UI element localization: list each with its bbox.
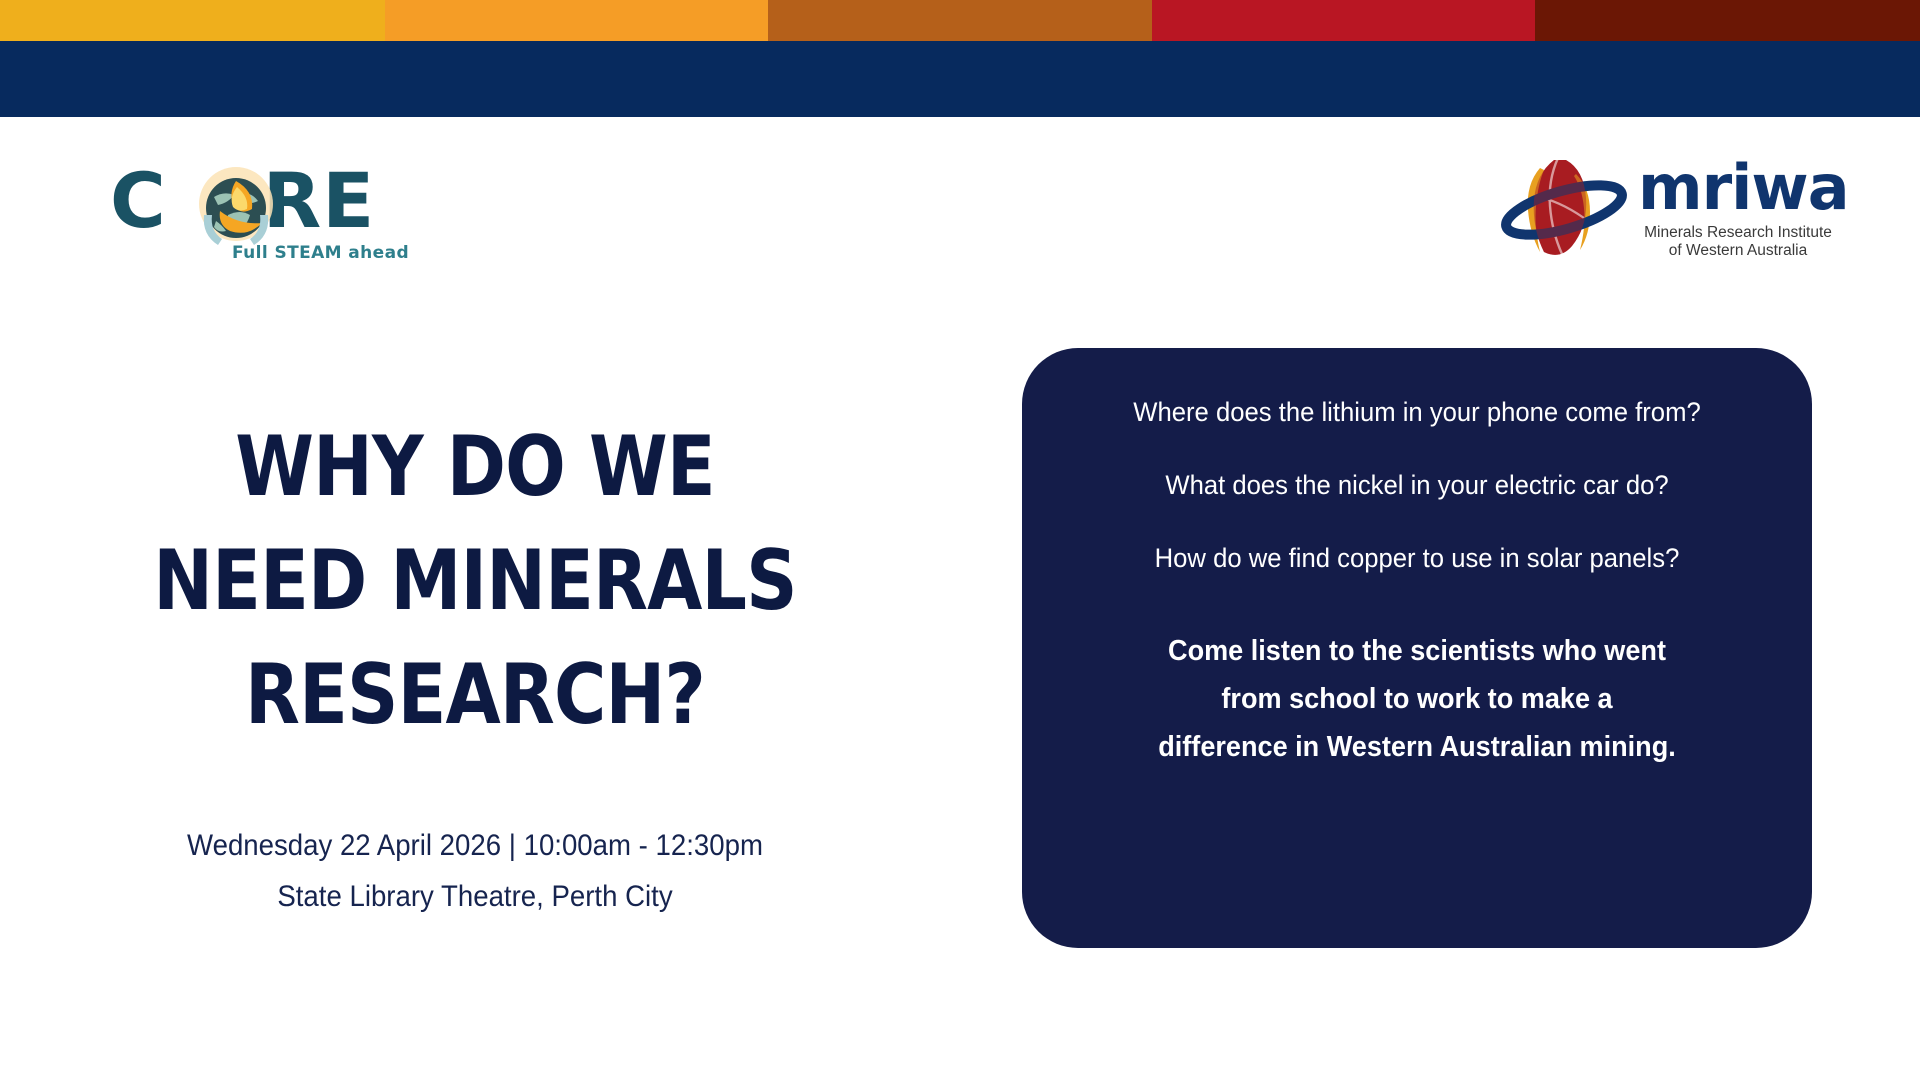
event-datetime: Wednesday 22 April 2026 | 10:00am - 12:3… bbox=[93, 820, 857, 871]
mriwa-emblem-icon bbox=[1500, 152, 1628, 264]
core-tagline: Full STEAM ahead bbox=[232, 243, 409, 263]
cta-line-3: difference in Western Australian mining. bbox=[1099, 723, 1736, 771]
question-item: Where does the lithium in your phone com… bbox=[1099, 396, 1736, 429]
mriwa-logo: mriwa Minerals Research Institute of Wes… bbox=[1500, 150, 1840, 270]
event-details: Wednesday 22 April 2026 | 10:00am - 12:3… bbox=[93, 820, 857, 922]
color-bar-segment-yellow bbox=[0, 0, 385, 41]
headline-line-2: NEED MINERALS bbox=[118, 524, 832, 638]
mriwa-subtitle-line-2: of Western Australia bbox=[1638, 242, 1838, 260]
top-color-bar bbox=[0, 0, 1920, 41]
info-card: Where does the lithium in your phone com… bbox=[1022, 348, 1812, 948]
color-bar-segment-maroon bbox=[1535, 0, 1920, 41]
call-to-action: Come listen to the scientists who went f… bbox=[1099, 627, 1736, 771]
question-list: Where does the lithium in your phone com… bbox=[1082, 396, 1752, 575]
page-title: WHY DO WE NEED MINERALS RESEARCH? bbox=[118, 410, 832, 752]
color-bar-segment-ochre bbox=[768, 0, 1152, 41]
cta-line-1: Come listen to the scientists who went bbox=[1099, 627, 1736, 675]
cta-line-2: from school to work to make a bbox=[1099, 675, 1736, 723]
mriwa-wordmark: mriwa bbox=[1638, 156, 1849, 220]
mriwa-subtitle: Minerals Research Institute of Western A… bbox=[1638, 224, 1838, 260]
headline-line-1: WHY DO WE bbox=[118, 410, 832, 524]
color-bar-segment-red bbox=[1152, 0, 1535, 41]
question-item: What does the nickel in your electric ca… bbox=[1099, 469, 1736, 502]
question-item: How do we find copper to use in solar pa… bbox=[1099, 542, 1736, 575]
headline-line-3: RESEARCH? bbox=[118, 638, 832, 752]
mriwa-subtitle-line-1: Minerals Research Institute bbox=[1638, 224, 1838, 242]
globe-icon bbox=[190, 163, 282, 255]
header-navy-band bbox=[0, 41, 1920, 117]
color-bar-segment-orange bbox=[385, 0, 768, 41]
core-logo: CRE Full STEAM ahead bbox=[108, 155, 398, 270]
core-letter-c: C bbox=[110, 156, 167, 245]
event-venue: State Library Theatre, Perth City bbox=[93, 871, 857, 922]
